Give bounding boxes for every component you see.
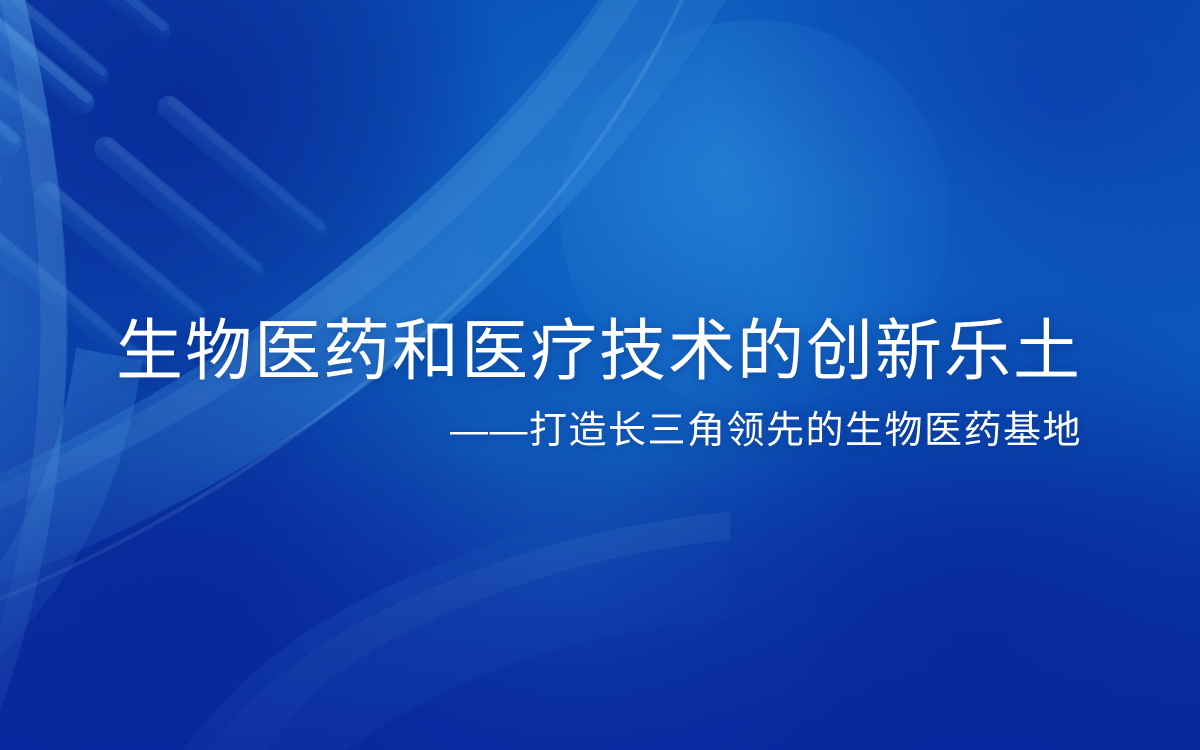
corner-tint-bottom-right [500, 210, 1200, 750]
headline-block: 生物医药和医疗技术的创新乐土 ——打造长三角领先的生物医药基地 [0, 318, 1082, 453]
arc-ring-right-icon [820, 0, 1200, 540]
hero-banner: 生物医药和医疗技术的创新乐土 ——打造长三角领先的生物医药基地 [0, 0, 1200, 750]
corner-tint-bottom-left [0, 230, 640, 750]
arc-ring-outer-icon [470, 0, 1170, 580]
page-subtitle: ——打造长三角领先的生物医药基地 [0, 411, 1082, 453]
page-title: 生物医药和医疗技术的创新乐土 [0, 318, 1082, 385]
bottom-gradient-overlay [0, 450, 1200, 750]
